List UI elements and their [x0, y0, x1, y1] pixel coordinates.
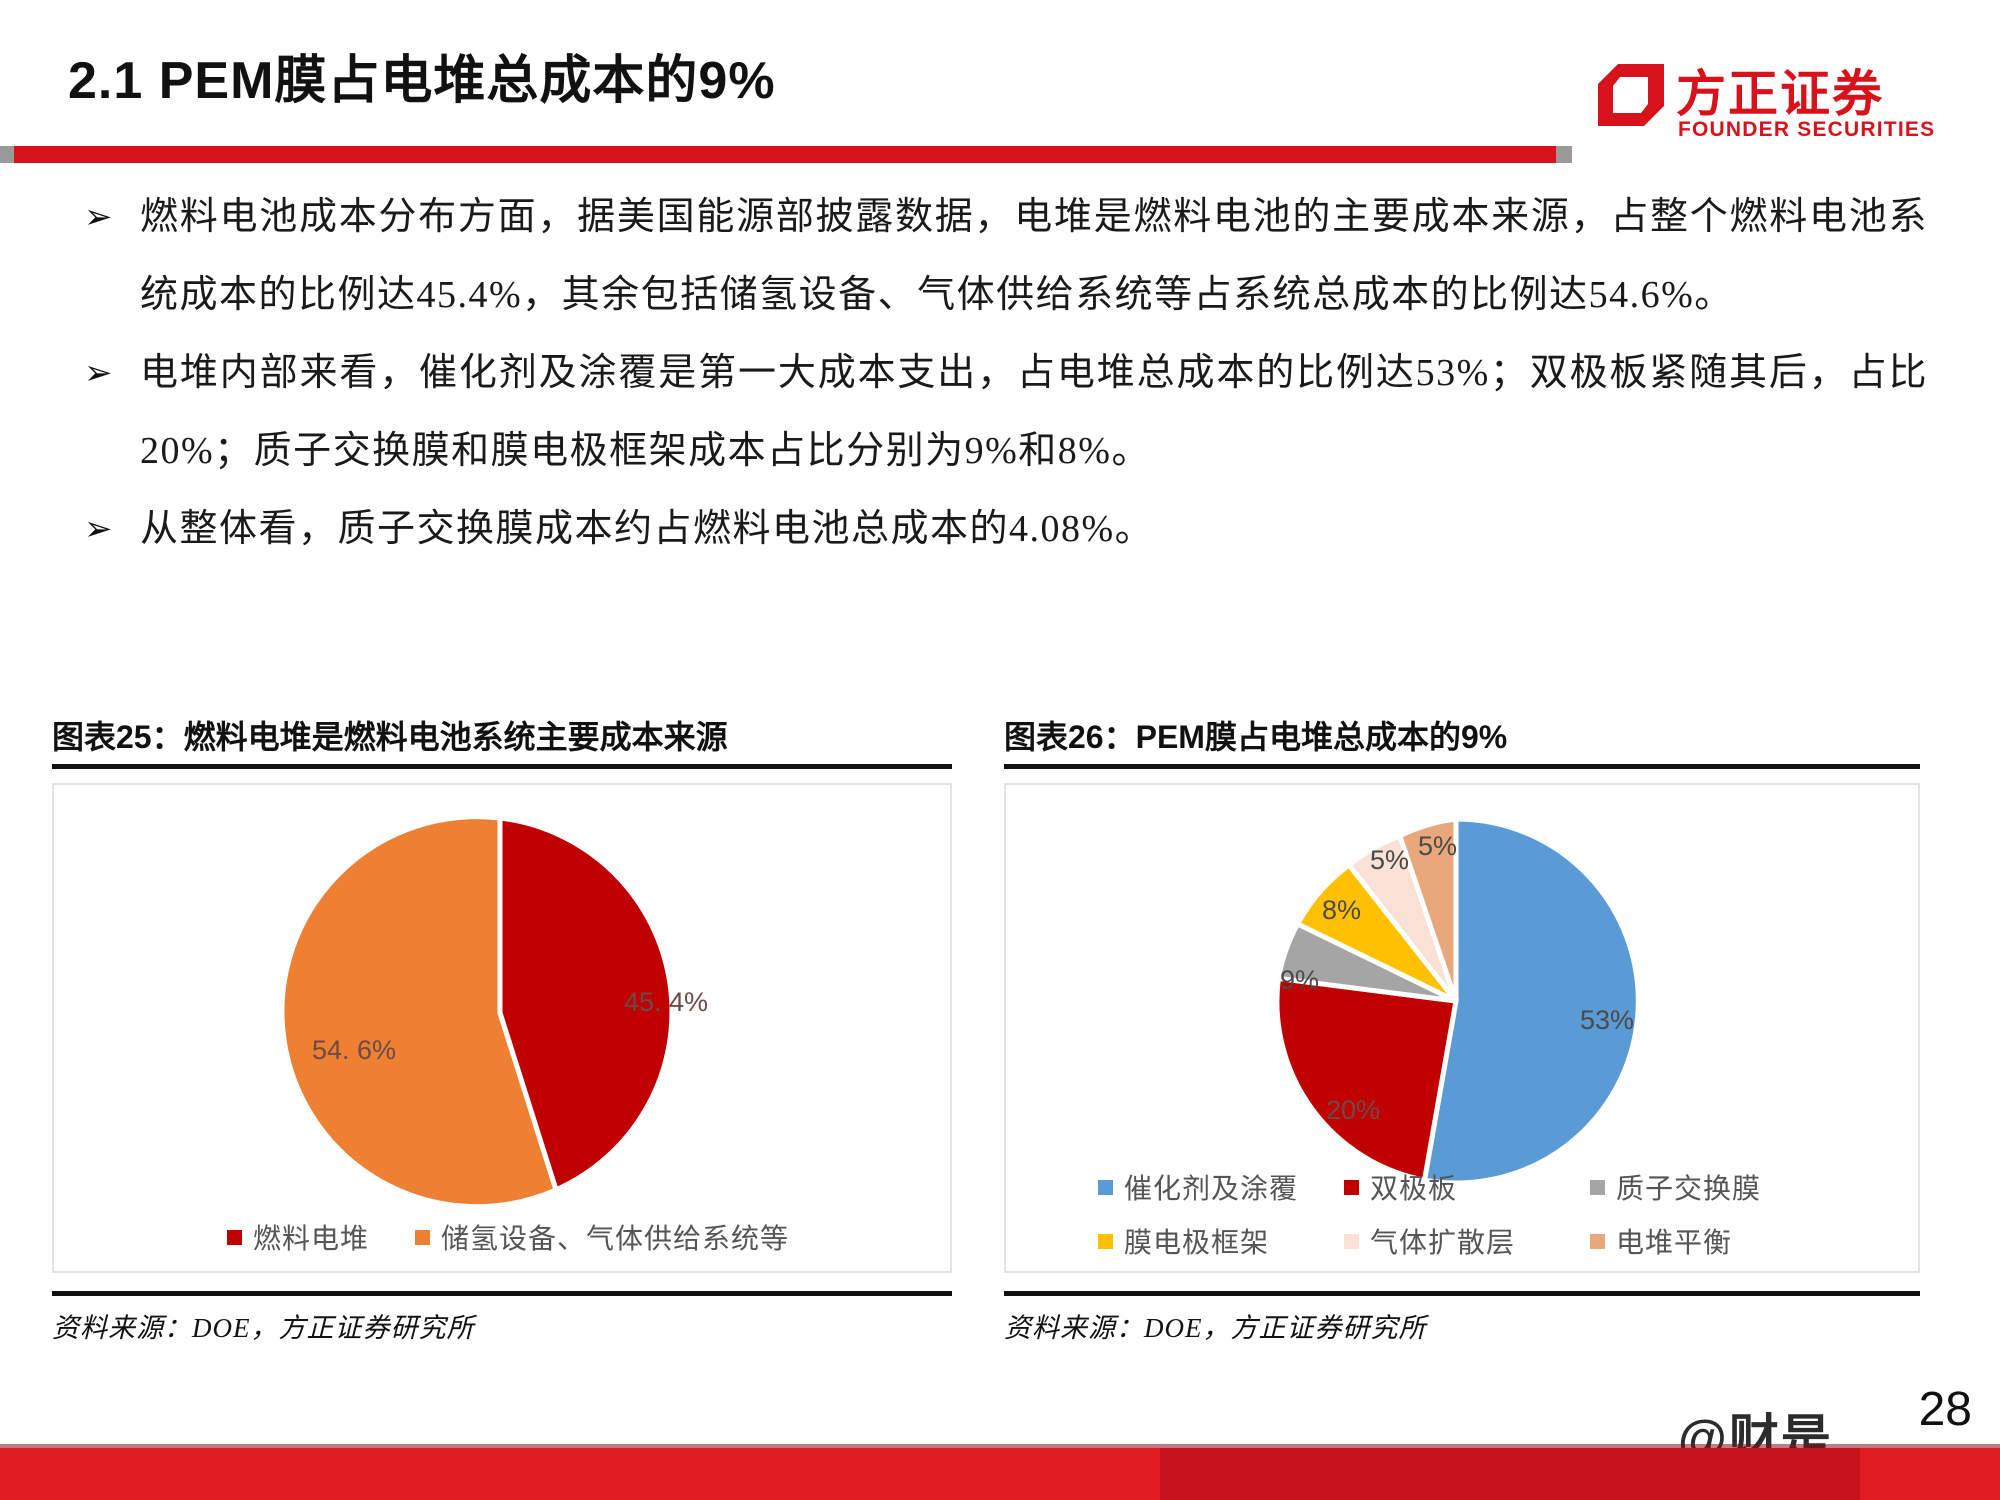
legend-item-mea-frame[interactable]: 膜电极框架: [1098, 1221, 1344, 1261]
legend-item-stack-balance[interactable]: 电堆平衡: [1590, 1221, 1836, 1261]
legend-item-catalyst-coating[interactable]: 催化剂及涂覆: [1098, 1167, 1344, 1207]
legend-label: 燃料电堆: [253, 1217, 369, 1257]
figure-panel-25: 图表25：燃料电堆是燃料电池系统主要成本来源 45. 4% 54. 6% 燃料电…: [52, 712, 952, 1345]
legend-label: 催化剂及涂覆: [1124, 1167, 1298, 1207]
legend-swatch-icon: [227, 1230, 242, 1245]
figure-source: 资料来源：DOE，方正证券研究所: [52, 1296, 952, 1345]
pie-svg: [250, 803, 750, 1223]
legend-swatch-icon: [1344, 1180, 1359, 1195]
legend-label: 质子交换膜: [1616, 1167, 1761, 1207]
founder-diamond-icon: [1598, 64, 1664, 126]
legend-26: 催化剂及涂覆 双极板 质子交换膜 膜电极框架 气体扩散层 电堆平衡: [1098, 1167, 1838, 1261]
legend-swatch-icon: [1590, 1180, 1605, 1195]
legend-item-gas-diffusion-layer[interactable]: 气体扩散层: [1344, 1221, 1590, 1261]
bullet-item-2: ➢ 电堆内部来看，催化剂及涂覆是第一大成本支出，占电堆总成本的比例达53%；双极…: [78, 334, 1928, 490]
bullet-text: 电堆内部来看，催化剂及涂覆是第一大成本支出，占电堆总成本的比例达53%；双极板紧…: [140, 352, 1928, 472]
figure-plot-area: 53% 20% 9% 8% 5% 5% 催化剂及涂覆 双极板 质子交换膜 膜电极…: [1004, 783, 1920, 1273]
pie-svg: [1238, 789, 1688, 1209]
legend-swatch-icon: [1590, 1234, 1605, 1249]
pie-chart-25: 45. 4% 54. 6%: [250, 803, 750, 1228]
legend-item-bipolar-plate[interactable]: 双极板: [1344, 1167, 1590, 1207]
footer-bar: [0, 1448, 2000, 1500]
legend-label: 双极板: [1370, 1167, 1457, 1207]
figure-plot-area: 45. 4% 54. 6% 燃料电堆 储氢设备、气体供给系统等: [52, 783, 952, 1273]
page-number: 28: [1919, 1382, 1972, 1437]
bullet-arrow-icon: ➢: [84, 490, 114, 568]
page-title: 2.1 PEM膜占电堆总成本的9%: [68, 38, 776, 113]
bullet-text: 从整体看，质子交换膜成本约占燃料电池总成本的4.08%。: [140, 508, 1154, 550]
header-accent-rule-cap-left: [0, 146, 14, 163]
legend-label: 气体扩散层: [1370, 1221, 1515, 1261]
legend-item-proton-exchange-membrane[interactable]: 质子交换膜: [1590, 1167, 1836, 1207]
bullet-text: 燃料电池成本分布方面，据美国能源部披露数据，电堆是燃料电池的主要成本来源，占整个…: [140, 196, 1928, 316]
legend-swatch-icon: [1344, 1234, 1359, 1249]
figure-panel-26: 图表26：PEM膜占电堆总成本的9% 53% 20% 9% 8%: [1004, 712, 1920, 1345]
pie-chart-26: 53% 20% 9% 8% 5% 5%: [1238, 789, 1688, 1214]
legend-label: 储氢设备、气体供给系统等: [441, 1217, 789, 1257]
legend-25: 燃料电堆 储氢设备、气体供给系统等: [218, 1217, 798, 1257]
brand-logo: 方正证券 FOUNDER SECURITIES: [1598, 58, 1958, 150]
legend-swatch-icon: [415, 1230, 430, 1245]
logo-english-name: FOUNDER SECURITIES: [1678, 118, 1935, 142]
figure-caption: 图表26：PEM膜占电堆总成本的9%: [1004, 712, 1920, 764]
bullet-list: ➢ 燃料电池成本分布方面，据美国能源部披露数据，电堆是燃料电池的主要成本来源，占…: [78, 178, 1928, 568]
bullet-item-1: ➢ 燃料电池成本分布方面，据美国能源部披露数据，电堆是燃料电池的主要成本来源，占…: [78, 178, 1928, 334]
legend-swatch-icon: [1098, 1234, 1113, 1249]
legend-label: 电堆平衡: [1616, 1221, 1732, 1261]
bullet-arrow-icon: ➢: [84, 178, 114, 256]
legend-item-hydrogen-equipment[interactable]: 储氢设备、气体供给系统等: [415, 1217, 789, 1257]
legend-label: 膜电极框架: [1124, 1221, 1269, 1261]
bullet-arrow-icon: ➢: [84, 334, 114, 412]
figure-caption-rule: [52, 764, 952, 769]
header-accent-rule-cap-right: [1556, 146, 1572, 163]
figure-source: 资料来源：DOE，方正证券研究所: [1004, 1296, 1920, 1345]
bullet-item-3: ➢ 从整体看，质子交换膜成本约占燃料电池总成本的4.08%。: [78, 490, 1928, 568]
logo-chinese-name: 方正证券: [1676, 54, 1884, 126]
legend-swatch-icon: [1098, 1180, 1113, 1195]
pie-slice-bipolar-plate[interactable]: [1277, 978, 1456, 1180]
header-accent-rule: [0, 146, 1570, 163]
figure-caption-rule: [1004, 764, 1920, 769]
legend-item-fuel-stack[interactable]: 燃料电堆: [227, 1217, 369, 1257]
figure-caption: 图表25：燃料电堆是燃料电池系统主要成本来源: [52, 712, 952, 764]
